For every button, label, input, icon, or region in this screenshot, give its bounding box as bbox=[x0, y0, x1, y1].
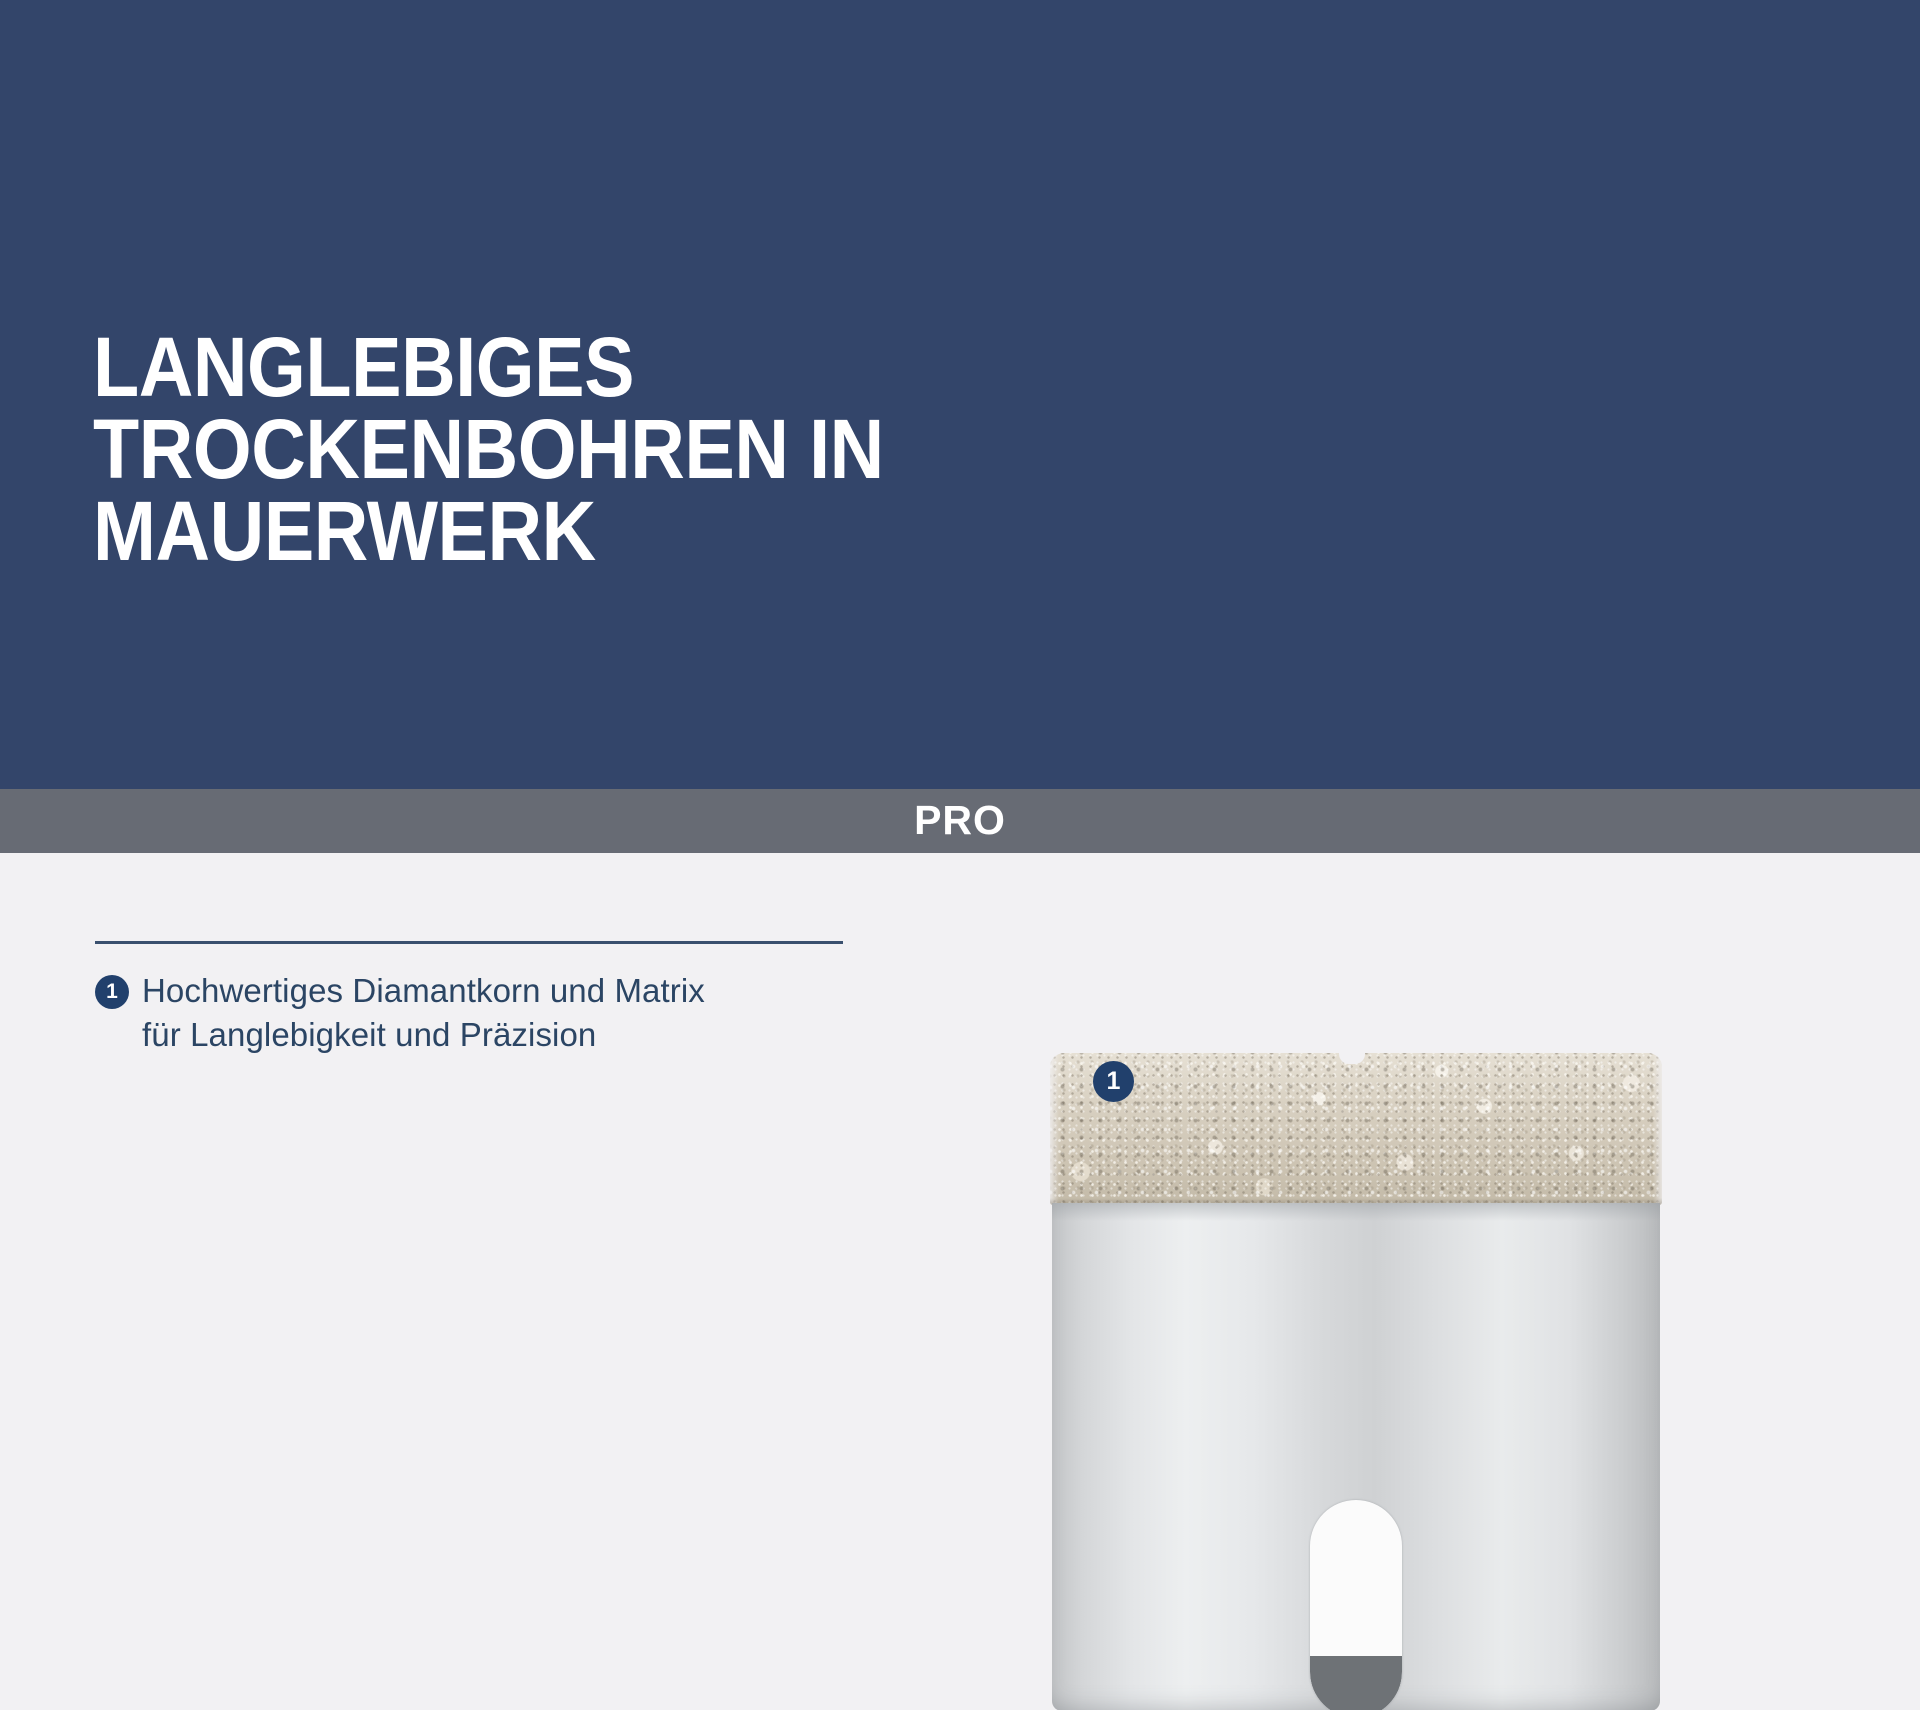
slot-bottom-shadow bbox=[1310, 1656, 1402, 1710]
crown-rim-right bbox=[1653, 1053, 1662, 1205]
hero-banner: LANGLEBIGES TROCKENBOHREN IN MAUERWERK bbox=[0, 0, 1920, 789]
promo-page: LANGLEBIGES TROCKENBOHREN IN MAUERWERK P… bbox=[0, 0, 1920, 1710]
content-area: 1 Hochwertiges Diamantkorn und Matrix fü… bbox=[0, 853, 1920, 1710]
page-title: LANGLEBIGES TROCKENBOHREN IN MAUERWERK bbox=[93, 327, 1263, 573]
product-callout-badge: 1 bbox=[1093, 1061, 1134, 1102]
feature-list: 1 Hochwertiges Diamantkorn und Matrix fü… bbox=[95, 941, 845, 1057]
crown-grain-texture-coarse bbox=[1050, 1053, 1662, 1205]
crown-rim-left bbox=[1050, 1053, 1059, 1205]
feature-number-badge: 1 bbox=[95, 975, 129, 1009]
list-item: 1 Hochwertiges Diamantkorn und Matrix fü… bbox=[95, 969, 845, 1057]
diamond-crown-segment bbox=[1050, 1053, 1662, 1205]
barrel-slot bbox=[1310, 1500, 1402, 1710]
product-tier-band: PRO bbox=[0, 789, 1920, 853]
drill-barrel bbox=[1052, 1203, 1660, 1710]
feature-description: Hochwertiges Diamantkorn und Matrix für … bbox=[142, 969, 742, 1057]
product-image: 1 bbox=[1050, 1053, 1662, 1710]
divider-rule bbox=[95, 941, 843, 944]
barrel-top-shading bbox=[1052, 1203, 1660, 1221]
product-tier-label: PRO bbox=[914, 800, 1006, 841]
